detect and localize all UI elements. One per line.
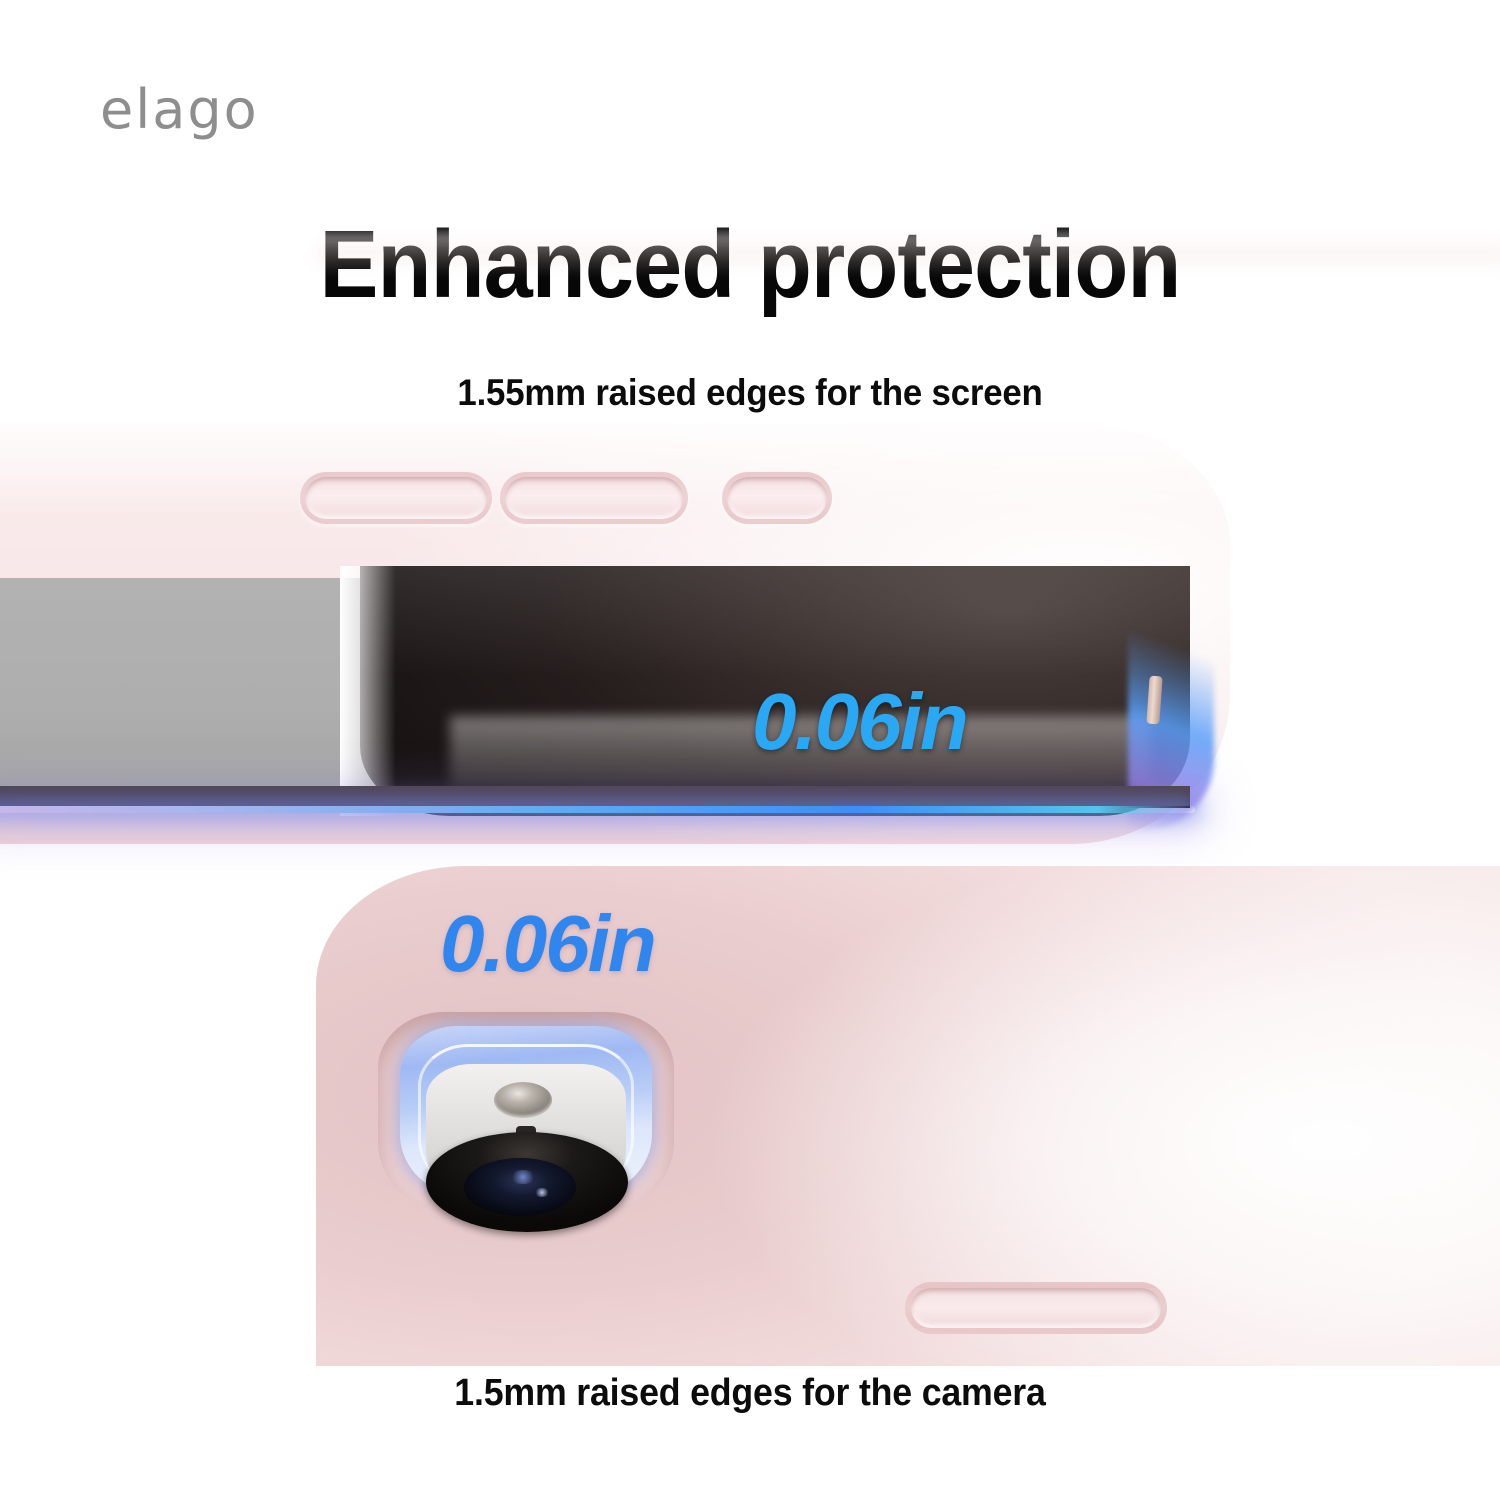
camera-module — [378, 1012, 678, 1232]
iridescent-edge-glow — [0, 806, 1195, 813]
camera-caption: 1.5mm raised edges for the camera — [45, 1372, 1455, 1415]
lens-glint-secondary — [534, 1188, 550, 1197]
bottom-port-cutout — [905, 1282, 1167, 1334]
lens-glint — [510, 1170, 536, 1184]
camera-side-illustration — [0, 866, 1500, 1366]
brand-logo: elago — [100, 78, 259, 141]
power-button-cutout — [722, 472, 832, 524]
volume-up-cutout — [300, 472, 492, 524]
phone-body-panel — [0, 578, 410, 808]
led-flash-icon — [494, 1082, 552, 1118]
screen-measurement-label: 0.06in — [752, 676, 967, 768]
camera-measurement-label: 0.06in — [440, 898, 655, 990]
volume-down-cutout — [500, 472, 688, 524]
case-bottom-sheen — [316, 232, 1500, 276]
camera-lens-inner — [464, 1158, 576, 1216]
screen-caption: 1.55mm raised edges for the screen — [45, 372, 1455, 414]
